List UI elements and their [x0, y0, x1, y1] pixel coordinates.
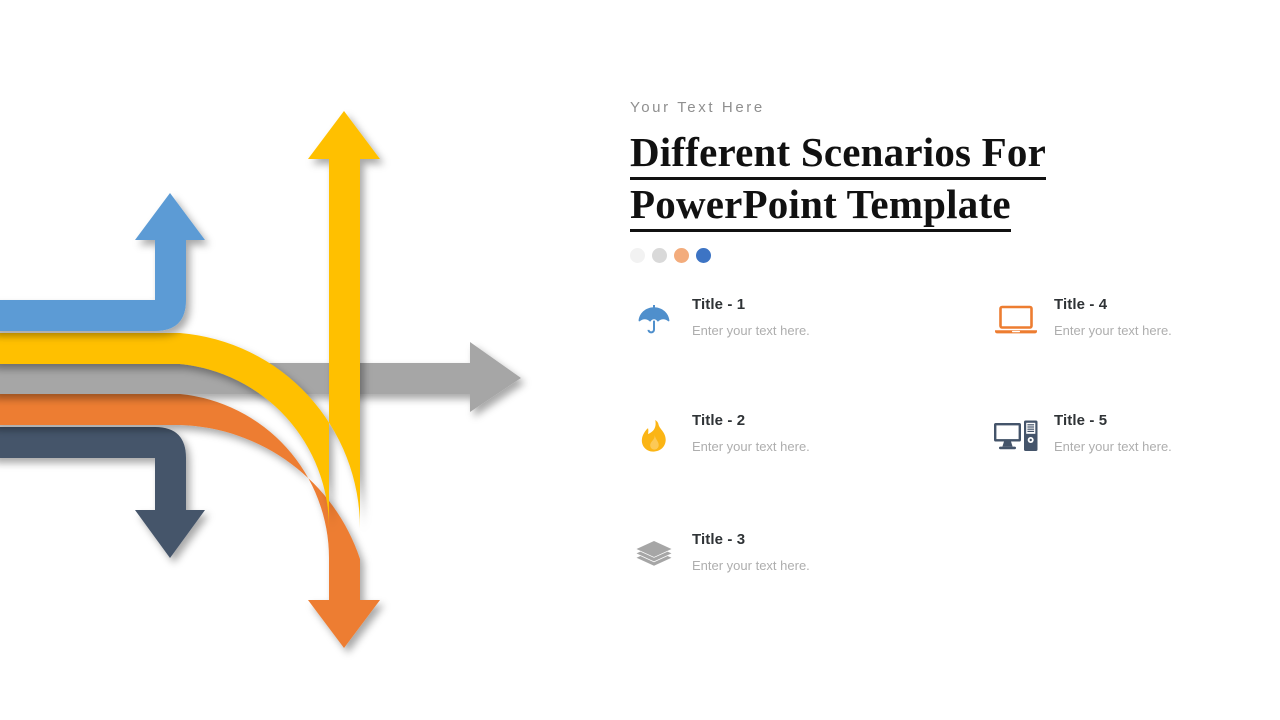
feature-list: Title - 1 Enter your text here. Title - …	[630, 292, 1250, 622]
list-item[interactable]: Title - 1 Enter your text here.	[630, 292, 930, 344]
navy-arrow-down	[0, 427, 205, 558]
list-item[interactable]: Title - 5 Enter your text here.	[992, 408, 1280, 460]
list-item-title: Title - 4	[1054, 296, 1107, 313]
list-item-subtitle: Enter your text here.	[1054, 439, 1172, 455]
eyebrow-text: Your Text Here	[630, 99, 765, 116]
list-item-subtitle: Enter your text here.	[692, 323, 810, 339]
list-item-subtitle: Enter your text here.	[692, 558, 810, 574]
list-item[interactable]: Title - 2 Enter your text here.	[630, 408, 930, 460]
slide-canvas: Your Text Here Different Scenarios For P…	[0, 0, 1280, 720]
dot-indicator-group	[630, 248, 711, 263]
page-title-line-2: PowerPoint Template	[630, 180, 1011, 232]
list-item-subtitle: Enter your text here.	[1054, 323, 1172, 339]
layers-icon	[630, 531, 678, 579]
umbrella-icon	[630, 296, 678, 344]
blue-arrow-up	[0, 193, 205, 331]
list-item-title: Title - 5	[1054, 412, 1107, 429]
dot-2[interactable]	[652, 248, 667, 263]
list-item-subtitle: Enter your text here.	[692, 439, 810, 455]
list-item-title: Title - 1	[692, 296, 745, 313]
laptop-icon	[992, 296, 1040, 344]
desktop-computer-icon	[992, 412, 1040, 460]
list-item-title: Title - 2	[692, 412, 745, 429]
dot-3[interactable]	[674, 248, 689, 263]
page-title: Different Scenarios For PowerPoint Templ…	[630, 128, 1230, 232]
list-item-title: Title - 3	[692, 531, 745, 548]
dot-4[interactable]	[696, 248, 711, 263]
content-panel: Your Text Here Different Scenarios For P…	[630, 0, 1250, 720]
page-title-line-1: Different Scenarios For	[630, 128, 1046, 180]
flame-icon	[630, 412, 678, 460]
list-item[interactable]: Title - 4 Enter your text here.	[992, 292, 1280, 344]
dot-1[interactable]	[630, 248, 645, 263]
list-item[interactable]: Title - 3 Enter your text here.	[630, 527, 930, 579]
arrows-diagram	[0, 0, 560, 720]
